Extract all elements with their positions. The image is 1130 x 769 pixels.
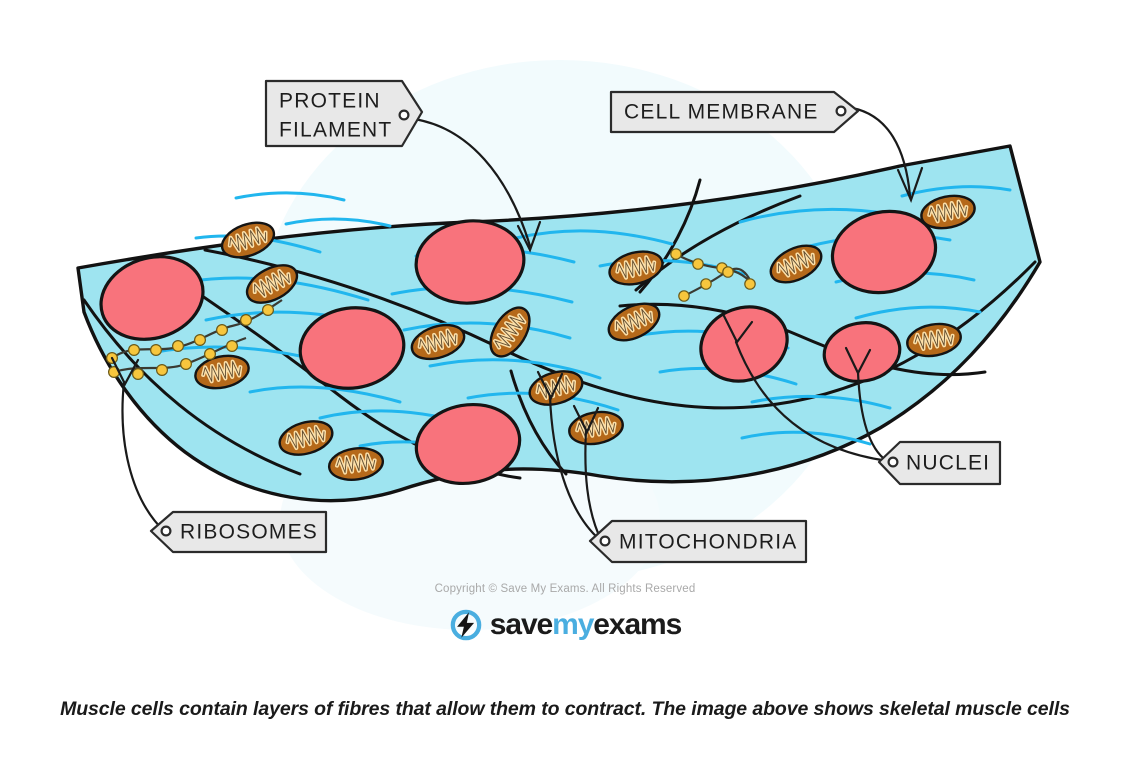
- logo-word-my: my: [552, 608, 593, 641]
- tag-eyelet-icon: [889, 458, 898, 467]
- logo-wordmark: savemyexams: [490, 610, 681, 640]
- label-protein-filament-line2: FILAMENT: [279, 119, 392, 142]
- leader-mitochondria-2: [585, 430, 602, 542]
- copyright-text: Copyright © Save My Exams. All Rights Re…: [0, 583, 1130, 595]
- leader-arrowheads: [112, 168, 922, 432]
- leader-nuclei-2: [858, 372, 890, 463]
- leader-lines: [123, 107, 910, 542]
- figure-caption: Muscle cells contain layers of fibres th…: [35, 695, 1095, 724]
- label-nuclei: NUCLEI: [906, 452, 990, 475]
- label-protein-filament-line1: PROTEIN: [279, 90, 381, 113]
- lightning-bolt-circle-icon: [449, 608, 483, 642]
- tag-eyelet-icon: [162, 527, 171, 536]
- label-tag-ribosomes[interactable]: RIBOSOMES: [151, 512, 326, 552]
- label-tag-cell-membrane[interactable]: CELL MEMBRANE: [611, 92, 858, 132]
- leader-protein-filament: [406, 118, 530, 246]
- label-tag-protein-filament[interactable]: PROTEIN FILAMENT: [266, 81, 422, 146]
- label-mitochondria: MITOCHONDRIA: [619, 531, 798, 554]
- logo-word-exams: exams: [593, 608, 681, 641]
- tag-eyelet-icon: [601, 537, 610, 546]
- leader-ribosomes: [123, 382, 164, 531]
- tag-eyelet-icon: [837, 107, 846, 116]
- logo-word-save: save: [490, 608, 552, 641]
- label-tag-mitochondria[interactable]: MITOCHONDRIA: [590, 521, 806, 562]
- leader-cell-membrane: [846, 107, 910, 196]
- annotation-layer: PROTEIN FILAMENT CELL MEMBRANE NUCLEI MI…: [0, 0, 1130, 769]
- label-ribosomes: RIBOSOMES: [180, 521, 318, 544]
- label-tag-nuclei[interactable]: NUCLEI: [879, 442, 1000, 484]
- save-my-exams-logo: savemyexams: [0, 608, 1130, 642]
- diagram-canvas: PROTEIN FILAMENT CELL MEMBRANE NUCLEI MI…: [0, 0, 1130, 769]
- label-cell-membrane: CELL MEMBRANE: [624, 101, 819, 124]
- tag-eyelet-icon: [400, 111, 409, 120]
